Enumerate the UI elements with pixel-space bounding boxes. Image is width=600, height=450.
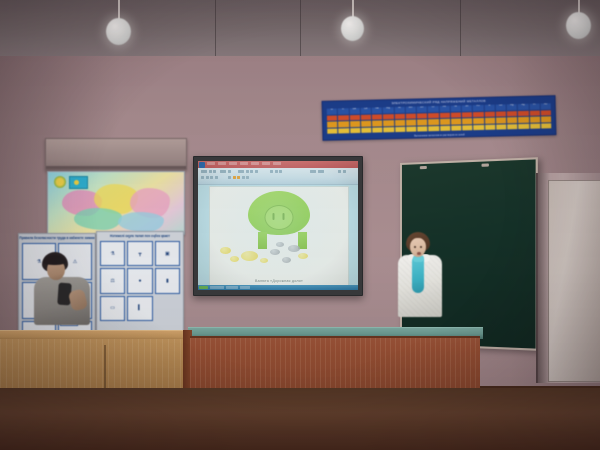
lab-equipment-poster: Нәтижелі оқуға талап пен еңбек қажет ⚗┳▣… (96, 231, 184, 337)
chem-reaction-cell (395, 126, 405, 132)
chem-element-column: Au (540, 103, 551, 128)
chem-reaction-cell (462, 118, 472, 124)
chem-reaction-cell (383, 120, 393, 126)
piggy-bank-leg (258, 232, 267, 249)
ceiling-seam (300, 0, 301, 60)
shapes-gallery-icon[interactable] (310, 170, 316, 173)
tube-icon: ▮ (155, 268, 180, 293)
ribbon-tab[interactable] (240, 162, 248, 165)
chem-reaction-cell (417, 119, 427, 125)
chem-element-column: Sn (462, 105, 473, 130)
chem-reaction-cell (440, 119, 450, 125)
taskbar-item[interactable] (210, 286, 224, 289)
chem-reaction-cell (530, 123, 540, 129)
ribbon-tab[interactable] (273, 162, 281, 165)
chem-element-symbol: Mn (405, 107, 415, 113)
ribbon-group-drawing[interactable] (310, 170, 324, 173)
chem-element-column: Cr (428, 106, 439, 131)
chem-element-column: Al (394, 107, 405, 132)
bullets-button-icon[interactable] (270, 170, 273, 173)
pendant-lamp-right (566, 12, 591, 39)
chem-reaction-cell (349, 114, 359, 120)
chem-element-column: Zn (417, 106, 428, 131)
chem-reaction-cell (462, 112, 472, 118)
chem-element-column: Cu (495, 104, 506, 129)
chem-element-column: Na (372, 107, 383, 132)
board-clip (420, 166, 427, 169)
chem-element-symbol: Au (540, 103, 550, 109)
chem-reaction-cell (361, 114, 371, 120)
stand-icon: ┳ (127, 241, 152, 266)
bold-button-icon[interactable] (250, 170, 253, 173)
chem-reaction-cell (507, 111, 517, 117)
line-spacing-icon[interactable] (228, 176, 231, 179)
cabinet-edge (46, 166, 186, 169)
emblem-icon (54, 176, 66, 188)
chem-element-symbol: Na (372, 107, 382, 113)
scale-icon: ⚖ (100, 268, 125, 293)
numbering-button-icon[interactable] (275, 170, 278, 173)
office-orb-icon[interactable] (199, 162, 205, 168)
ceiling-seam (460, 0, 461, 60)
powerpoint-ribbon[interactable] (198, 168, 358, 185)
chem-reaction-cell (406, 113, 416, 119)
chem-reaction-cell (361, 121, 371, 127)
chem-reaction-cell (507, 117, 517, 123)
align-center-icon[interactable] (206, 176, 209, 179)
chem-element-symbol: Cu (495, 104, 505, 110)
chem-reaction-cell (541, 110, 551, 116)
paste-button-icon[interactable] (201, 170, 207, 173)
slide-canvas[interactable]: Валюта «Дорожная доля» (209, 186, 349, 288)
chem-reaction-cell (417, 113, 427, 119)
chem-element-symbol: Pt (529, 104, 539, 110)
map-of-kazakhstan-poster (47, 171, 185, 235)
microscope-icon: ▣ (155, 241, 180, 266)
chem-reaction-cell (484, 111, 494, 117)
ribbon-group-paragraph[interactable] (270, 170, 282, 173)
chem-element-column: Mg (383, 107, 394, 132)
chem-reaction-cell (372, 114, 382, 120)
chem-reaction-cell (350, 127, 360, 133)
chem-reaction-cell (338, 115, 348, 121)
lab-icon-grid: ⚗┳▣⚖●▮▭▍ (97, 238, 183, 324)
chem-reaction-cell (395, 120, 405, 126)
chem-reaction-cell (440, 125, 450, 131)
chem-reaction-cell (473, 118, 483, 124)
ribbon-group-font[interactable] (238, 170, 258, 173)
chem-reaction-cell (473, 124, 483, 130)
chem-element-symbol: K (338, 108, 348, 114)
chem-element-symbol: Al (394, 107, 404, 113)
chem-element-column: Li (327, 108, 338, 133)
text-color-icon[interactable] (237, 176, 240, 179)
chem-reaction-cell (451, 125, 461, 131)
ribbon-tab[interactable] (251, 162, 259, 165)
taskbar-item[interactable] (240, 286, 250, 289)
chem-reaction-cell (541, 116, 551, 122)
pendant-lamp-left (106, 18, 131, 45)
find-icon[interactable] (338, 170, 341, 173)
battery-icon: ▍ (127, 296, 152, 321)
mouth (417, 252, 421, 255)
ceiling-seam (215, 0, 216, 60)
ribbon-tabs[interactable] (207, 162, 356, 165)
chem-element-symbol: Ni (450, 105, 460, 111)
chem-element-column: Ba (349, 108, 360, 133)
slide-caption: Валюта «Дорожная доля» (210, 279, 348, 283)
align-left-icon[interactable] (201, 176, 204, 179)
presenting-student (404, 232, 452, 337)
kazakhstan-flag-icon (69, 176, 88, 189)
seated-student (42, 252, 102, 332)
align-right-icon[interactable] (210, 176, 213, 179)
chem-reaction-cell (428, 119, 438, 125)
wall-cabinet (45, 138, 187, 170)
coin (270, 249, 280, 255)
chem-reaction-cell (462, 125, 472, 131)
chem-reaction-cell (372, 120, 382, 126)
book-icon: ▭ (100, 296, 125, 321)
lamp-icon: ● (127, 268, 152, 293)
chem-reaction-cell (428, 126, 438, 132)
chem-reaction-cell (451, 112, 461, 118)
coin (288, 245, 300, 252)
ribbon-row-2[interactable] (201, 176, 218, 179)
coin (230, 256, 239, 262)
chem-reaction-cell (507, 124, 517, 130)
chem-element-symbol: H (484, 105, 494, 111)
chem-reaction-cell (518, 110, 528, 116)
chem-reaction-cell (439, 112, 449, 118)
powerpoint-titlebar (198, 161, 358, 168)
ribbon-group-editing[interactable] (338, 170, 346, 173)
chem-reaction-cell (496, 117, 506, 123)
chem-reaction-cell (361, 127, 371, 133)
ribbon-tab[interactable] (218, 162, 226, 165)
taskbar-item[interactable] (226, 286, 238, 289)
chem-reaction-cell (496, 124, 506, 130)
chem-element-column: H (484, 105, 495, 130)
chem-element-column: Ag (518, 104, 529, 129)
coin (276, 242, 284, 247)
coin (241, 251, 258, 261)
italic-button-icon[interactable] (255, 170, 258, 173)
chem-reaction-cell (518, 123, 528, 129)
chem-reaction-cell (327, 128, 337, 134)
chem-element-symbol: Sn (462, 105, 472, 111)
lamp-cord (118, 0, 120, 20)
chem-element-symbol: Ba (349, 108, 359, 114)
chem-reaction-cell (529, 110, 539, 116)
safety-poster-title: Правила безопасности труда в кабинете хи… (19, 234, 95, 240)
chem-reaction-cell (485, 124, 495, 130)
copy-button-icon[interactable] (213, 170, 216, 173)
seated-student-fringe (43, 255, 66, 265)
presenting-student-scarf (412, 257, 424, 293)
font-size-box[interactable] (246, 170, 249, 173)
chem-element-symbol: Cr (428, 106, 438, 112)
floor (0, 388, 600, 450)
start-button[interactable] (199, 286, 208, 289)
chem-element-symbol: Hg (507, 104, 517, 110)
chem-reaction-cell (372, 127, 382, 133)
layout-button-icon[interactable] (228, 170, 231, 173)
indent-icon[interactable] (215, 176, 218, 179)
coin (298, 253, 308, 259)
chem-reaction-cell (327, 115, 337, 121)
shape-outline-icon[interactable] (242, 176, 245, 179)
chem-element-column: Pb (473, 105, 484, 130)
projected-screen[interactable]: Валюта «Дорожная доля» (198, 161, 358, 290)
coin (260, 258, 268, 263)
chem-element-symbol: Ca (360, 108, 370, 114)
align-button-icon[interactable] (279, 170, 282, 173)
chem-reaction-cell (485, 118, 495, 124)
chem-element-column: Mn (405, 107, 416, 132)
classroom-scene: ЭЛЕКТРОХИМИЧЕСКИЙ РЯД НАПРЯЖЕНИЙ МЕТАЛЛО… (0, 0, 600, 450)
chem-element-symbol: Pb (473, 105, 483, 111)
coin (220, 247, 231, 254)
chem-reaction-cell (394, 113, 404, 119)
chem-reaction-cell (406, 120, 416, 126)
cut-button-icon[interactable] (209, 170, 212, 173)
electrochemical-series-poster: ЭЛЕКТРОХИМИЧЕСКИЙ РЯД НАПРЯЖЕНИЙ МЕТАЛЛО… (322, 95, 557, 141)
door-shadow (536, 173, 550, 383)
chem-element-column: Ni (450, 105, 461, 130)
chem-element-symbol: Li (327, 108, 337, 114)
chem-reaction-cell (428, 113, 438, 119)
nostril (283, 213, 285, 220)
pendant-lamp-center (341, 16, 364, 41)
nostril (273, 213, 275, 220)
windows-taskbar[interactable] (198, 285, 358, 290)
select-icon[interactable] (343, 170, 346, 173)
ribbon-tab[interactable] (207, 162, 215, 165)
chem-reaction-cell (406, 126, 416, 132)
chem-element-symbol: Ag (518, 104, 528, 110)
chem-reaction-cell (473, 111, 483, 117)
chem-element-column: Hg (507, 104, 518, 129)
projection-screen-frame: Валюта «Дорожная доля» (193, 156, 363, 296)
ribbon-tab[interactable] (229, 162, 237, 165)
chem-reaction-cell (541, 123, 551, 129)
ribbon-group-slides[interactable] (220, 170, 231, 173)
chem-element-column: K (338, 108, 349, 133)
chem-reaction-cell (451, 118, 461, 124)
ribbon-tab[interactable] (262, 162, 270, 165)
chem-element-symbol: Mg (383, 107, 393, 113)
chem-reaction-cell (383, 127, 393, 133)
ribbon-group-clipboard[interactable] (201, 170, 216, 173)
font-name-box[interactable] (238, 170, 244, 173)
chem-reaction-cell (496, 111, 506, 117)
ribbon-row-2b[interactable] (228, 176, 249, 179)
chem-element-symbol: Zn (417, 106, 427, 112)
coin (282, 257, 291, 263)
shape-fill-icon[interactable] (233, 176, 236, 179)
chem-reaction-cell (327, 121, 337, 127)
chem-reaction-cell (338, 128, 348, 134)
chem-reaction-cell (417, 126, 427, 132)
arrange-icon[interactable] (318, 170, 324, 173)
board-clip (481, 163, 488, 166)
chem-element-column: Fe (439, 106, 450, 131)
chem-element-column: Ca (360, 108, 371, 133)
sun-icon (74, 180, 79, 185)
piggy-bank-snout (265, 205, 294, 230)
flask-icon: ⚗ (100, 241, 125, 266)
chem-reaction-cell (529, 117, 539, 123)
chem-reaction-cell (338, 121, 348, 127)
chem-reaction-cell (350, 121, 360, 127)
chem-reaction-cell (518, 117, 528, 123)
eye (414, 246, 416, 248)
chem-poster-grid: LiKBaCaNaMgAlMnZnCrFeNiSnPbHCuHgAgPtAu (327, 103, 552, 133)
effects-icon[interactable] (246, 176, 249, 179)
new-slide-button-icon[interactable] (220, 170, 226, 173)
chem-reaction-cell (383, 114, 393, 120)
chem-element-symbol: Fe (439, 106, 449, 112)
classroom-door[interactable] (548, 180, 600, 382)
chem-element-column: Pt (529, 104, 540, 129)
eye (420, 246, 422, 248)
